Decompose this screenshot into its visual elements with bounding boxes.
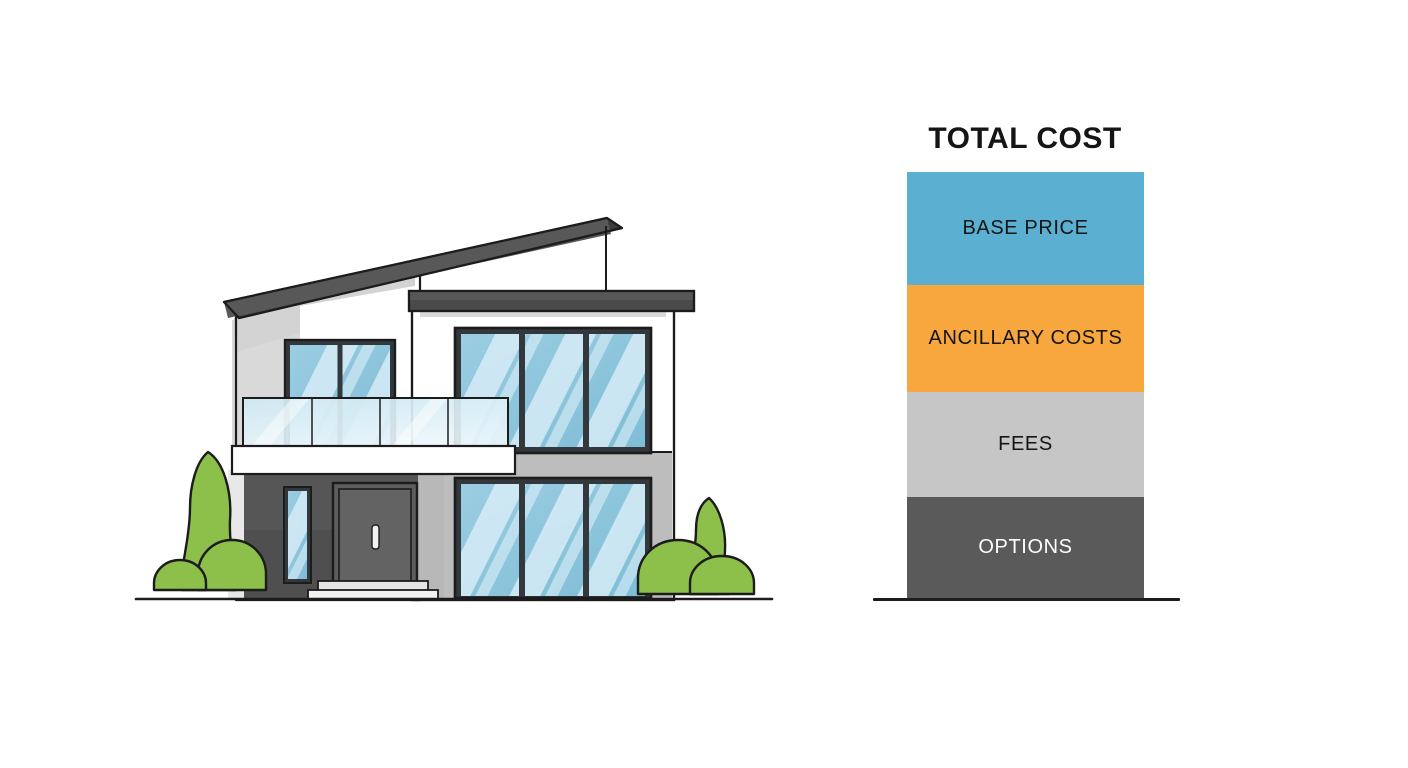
house-illustration [0, 0, 860, 768]
bar-segment-ancillary-costs[interactable]: ANCILLARY COSTS [907, 285, 1144, 392]
illustration-canvas: TOTAL COST BASE PRICE ANCILLARY COSTS FE… [0, 0, 1408, 768]
entry-steps [308, 581, 438, 600]
entry-door [333, 483, 417, 591]
bar-segment-ancillary-costs-label: ANCILLARY COSTS [929, 323, 1123, 354]
bar-segment-base-price-label: BASE PRICE [962, 213, 1088, 244]
total-cost-chart: TOTAL COST BASE PRICE ANCILLARY COSTS FE… [860, 0, 1408, 768]
bar-segment-fees[interactable]: FEES [907, 392, 1144, 497]
bar-segment-options[interactable]: OPTIONS [907, 497, 1144, 598]
bar-segment-base-price[interactable]: BASE PRICE [907, 172, 1144, 285]
chart-title: TOTAL COST [860, 122, 1190, 156]
stacked-cost-bar: BASE PRICE ANCILLARY COSTS FEES OPTIONS [907, 172, 1144, 598]
bar-segment-fees-label: FEES [998, 429, 1053, 460]
flat-roof-slab [409, 291, 694, 311]
bar-segment-options-label: OPTIONS [978, 532, 1072, 563]
chart-baseline [873, 598, 1180, 601]
glass-balcony-railing [243, 398, 508, 448]
door-handle [372, 525, 379, 549]
balcony-slab [232, 446, 515, 474]
